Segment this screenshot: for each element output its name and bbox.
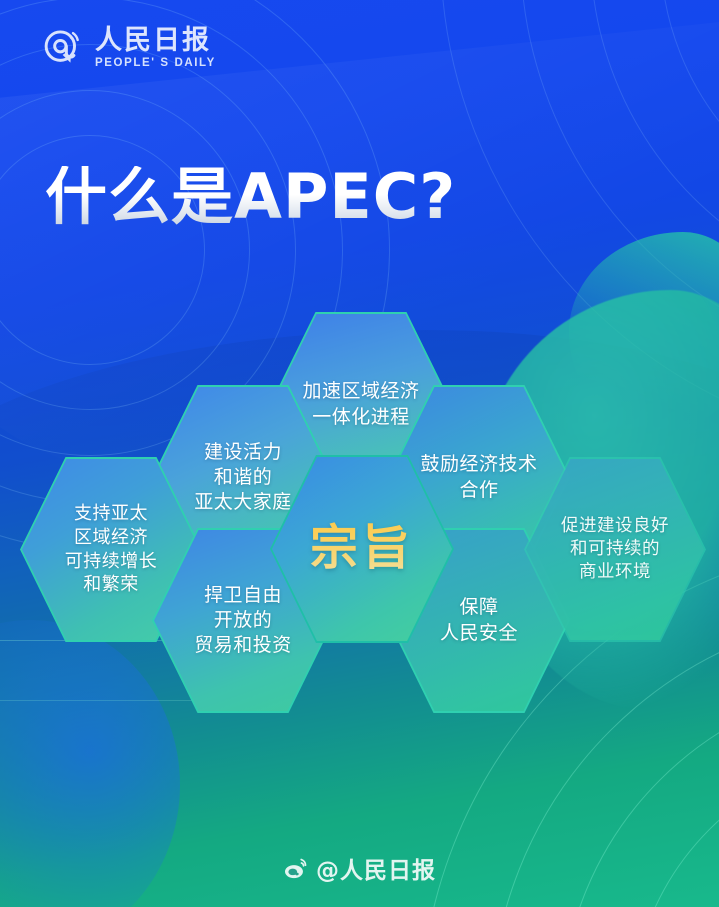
watermark: @人民日报 xyxy=(0,851,719,885)
hexagon-label: 捍卫自由 开放的 贸易和投资 xyxy=(194,583,292,658)
hexagon-label: 加速区域经济 一体化进程 xyxy=(302,379,419,429)
hexagon-label: 保障 人民安全 xyxy=(440,595,518,645)
apec-infographic-poster: 人民日报 PEOPLE' S DAILY 什么是APEC? 加速区域经济 一体化… xyxy=(0,0,719,907)
hexagon-label: 建设活力 和谐的 亚太大家庭 xyxy=(194,440,292,515)
hexagon-label: 鼓励经济技术 合作 xyxy=(420,452,537,502)
weibo-icon xyxy=(283,855,309,881)
hexagon-cluster: 加速区域经济 一体化进程 建设活力 和谐的 亚太大家庭 支持亚太 区域经济 可持… xyxy=(0,0,719,907)
watermark-handle: @人民日报 xyxy=(316,851,436,885)
hexagon-label: 支持亚太 区域经济 可持续增长 和繁荣 xyxy=(65,502,158,597)
hexagon-center-label: 宗旨 xyxy=(310,517,414,580)
hexagon-label: 促进建设良好 和可持续的 商业环境 xyxy=(561,515,669,584)
